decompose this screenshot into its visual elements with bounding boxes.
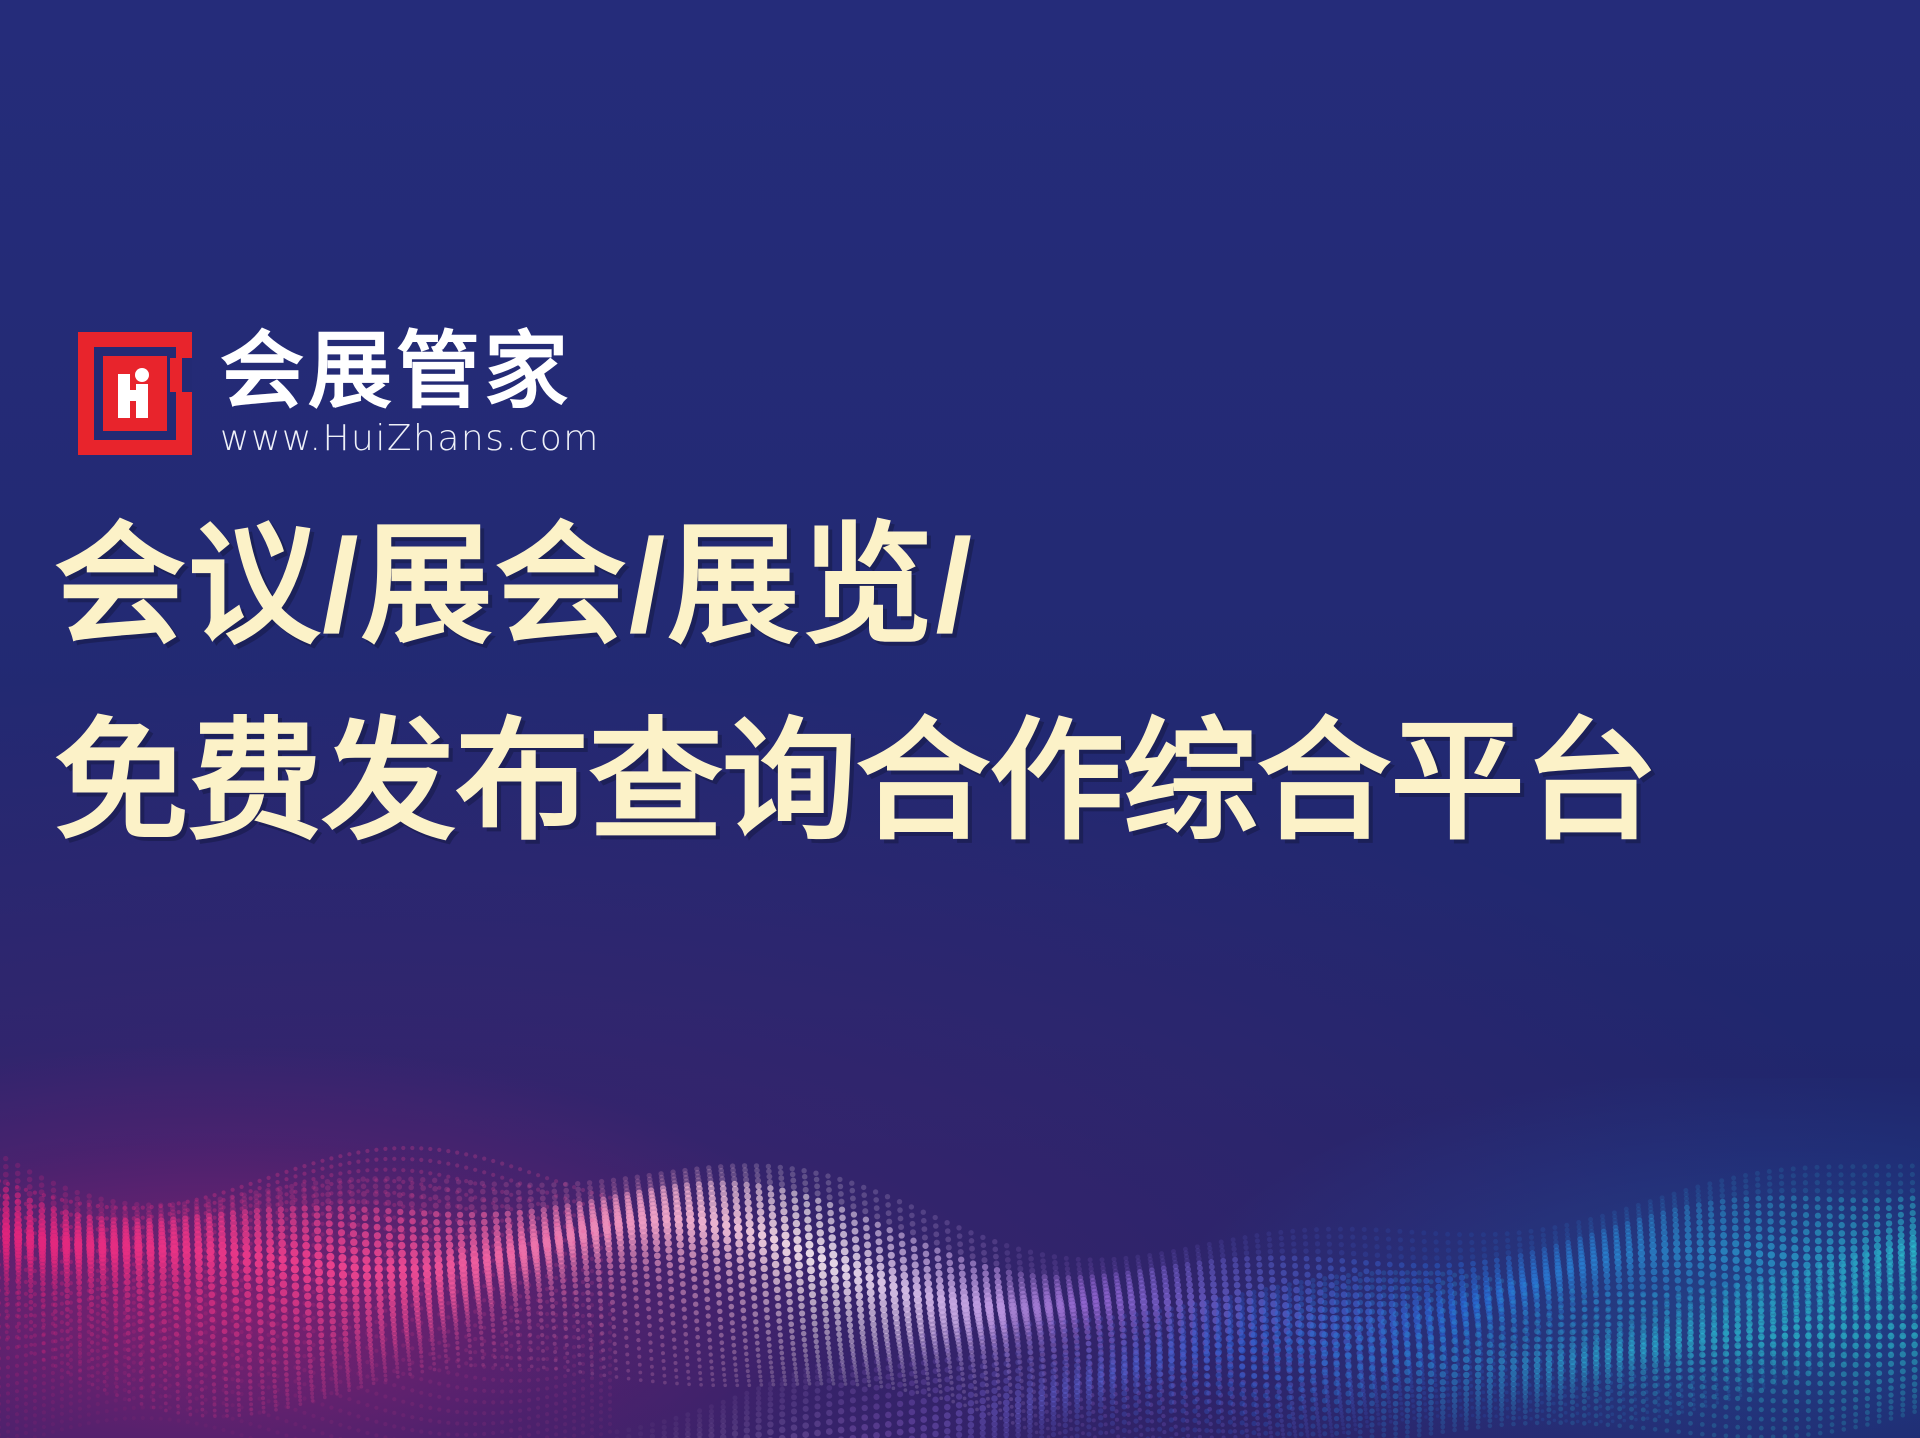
brand-website: www.HuiZhans.com <box>220 418 600 459</box>
particle-wave-graphic <box>0 878 1920 1438</box>
wave-dots-svg <box>0 878 1920 1438</box>
brand-logo[interactable]: 会展管家 www.HuiZhans.com <box>78 328 600 459</box>
headline-line-1: 会议/展会/展览/ <box>54 520 1854 652</box>
headline-line-2: 免费发布查询合作综合平台 <box>54 716 1890 848</box>
huizhans-h-mark-icon <box>78 332 192 455</box>
brand-wordmark: 会展管家 www.HuiZhans.com <box>220 328 600 459</box>
brand-name: 会展管家 <box>220 330 600 412</box>
promo-banner: 会展管家 www.HuiZhans.com 会议/展会/展览/ 免费发布查询合作… <box>0 0 1920 1438</box>
headline-block: 会议/展会/展览/ 免费发布查询合作综合平台 <box>54 520 1854 848</box>
